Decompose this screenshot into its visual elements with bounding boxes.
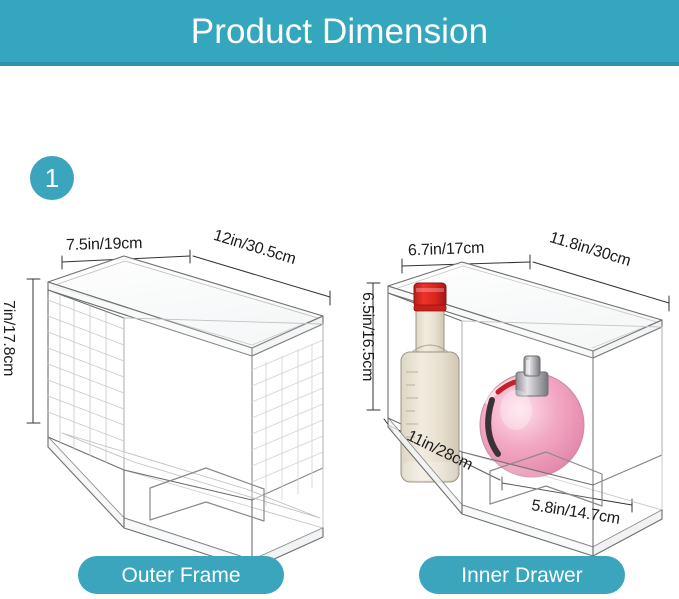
inner-drawer-illustration [340, 0, 679, 599]
dimension-label-inner-height: 6.5in/16.5cm [359, 292, 375, 381]
product-panel-inner-drawer: 2 [340, 0, 679, 599]
dimension-label-outer-height: 7in/17.8cm [0, 300, 16, 376]
caption-pill-outer-frame: Outer Frame [78, 556, 284, 594]
badge-number: 1 [45, 165, 59, 191]
dimension-label-outer-width: 7.5in/19cm [66, 236, 143, 254]
outer-frame-illustration [0, 0, 339, 599]
caption-pill-inner-drawer: Inner Drawer [419, 556, 625, 594]
caption-text: Outer Frame [121, 565, 240, 586]
outer-frame-drawing [0, 0, 339, 599]
product-panel-outer-frame: 1 7.5in/19cm 12in/30.5cm 7in/17.8cm [0, 0, 339, 599]
dimension-label-inner-width: 6.7in/17cm [408, 241, 485, 260]
step-badge-1: 1 [30, 156, 74, 200]
inner-drawer-drawing [340, 0, 679, 599]
caption-text: Inner Drawer [461, 565, 582, 586]
